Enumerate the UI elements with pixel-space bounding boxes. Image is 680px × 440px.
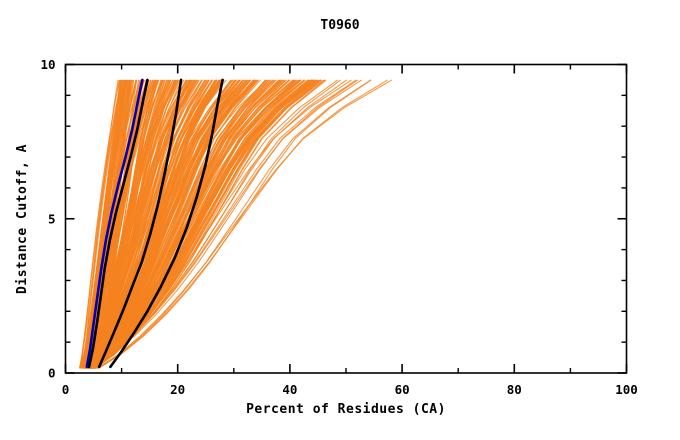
x-tick-label: 60 [395,382,410,397]
x-tick-label: 20 [170,382,185,397]
x-axis-label: Percent of Residues (CA) [246,402,446,417]
y-tick-label: 10 [40,57,55,72]
x-tick-label: 0 [62,382,70,397]
chart-title: T0960 [320,18,359,33]
distance-cutoff-plot: 0204060801000510 T0960 Percent of Residu… [0,0,680,440]
x-tick-label: 80 [507,382,522,397]
chart-figure: 0204060801000510 T0960 Percent of Residu… [0,0,680,440]
x-tick-label: 100 [615,382,638,397]
y-tick-label: 0 [48,366,56,381]
x-tick-label: 40 [282,382,297,397]
y-axis-label: Distance Cutoff, A [15,144,30,294]
y-tick-label: 5 [48,211,56,226]
